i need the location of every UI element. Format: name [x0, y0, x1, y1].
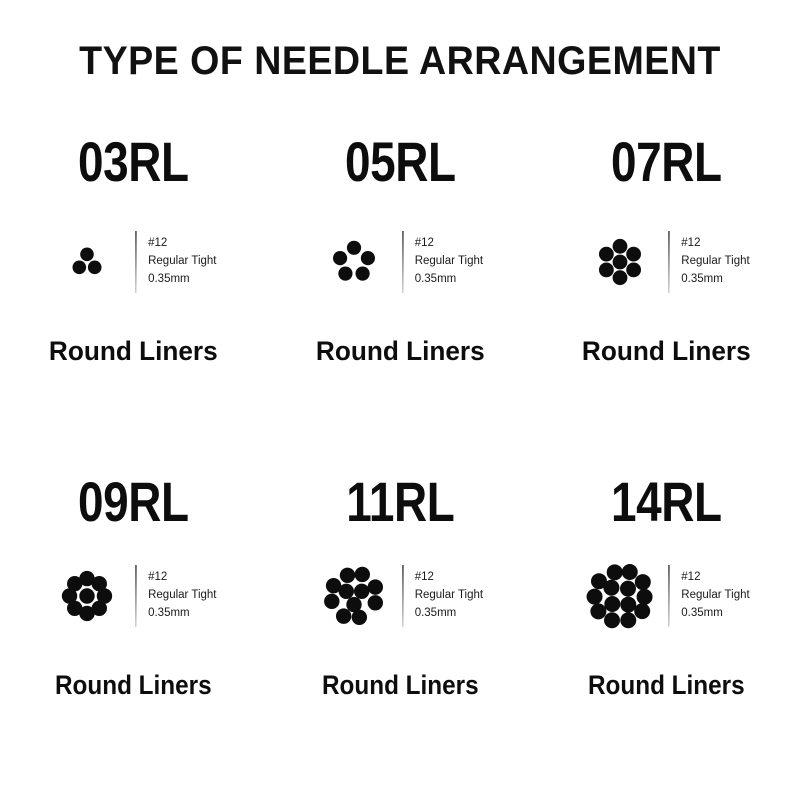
needle-dot-diagram [583, 225, 657, 299]
needle-diameter: 0.35mm [681, 271, 749, 289]
needle-diameter: 0.35mm [415, 605, 483, 623]
needle-gauge: #12 [681, 569, 749, 587]
needle-gauge: #12 [415, 235, 483, 253]
needle-diameter: 0.35mm [148, 605, 216, 623]
needle-spec: #12 Regular Tight 0.35mm [415, 569, 483, 622]
needle-code: 07RL [557, 118, 776, 190]
needle-card-0[interactable]: 03RL #12 Regular Tight 0.35mm Round Line… [0, 118, 267, 458]
needle-taper-icon [401, 565, 405, 627]
needle-gauge: #12 [681, 235, 749, 253]
needle-type-label: Round Liners [547, 670, 787, 701]
needle-arrangement-grid: 03RL #12 Regular Tight 0.35mm Round Line… [0, 118, 800, 798]
needle-detail-row: #12 Regular Tight 0.35mm [0, 214, 267, 310]
needle-taper: Regular Tight [681, 587, 749, 605]
needle-spec: #12 Regular Tight 0.35mm [681, 235, 749, 288]
needle-taper: Regular Tight [148, 587, 216, 605]
needle-taper-icon [401, 231, 405, 293]
needle-dot-diagram [317, 225, 391, 299]
needle-diameter: 0.35mm [681, 605, 749, 623]
needle-gauge: #12 [148, 235, 216, 253]
needle-detail-row: #12 Regular Tight 0.35mm [533, 214, 800, 310]
needle-spec: #12 Regular Tight 0.35mm [415, 235, 483, 288]
needle-card-3[interactable]: 09RL #12 Regular Tight 0.35mm Round Line… [0, 458, 267, 798]
needle-gauge: #12 [148, 569, 216, 587]
needle-type-label: Round Liners [280, 670, 520, 701]
needle-type-label: Round Liners [271, 336, 530, 367]
needle-dot-diagram [50, 225, 124, 299]
needle-dot-diagram [317, 559, 391, 633]
needle-taper: Regular Tight [681, 253, 749, 271]
needle-type-label: Round Liners [537, 336, 796, 367]
needle-gauge: #12 [415, 569, 483, 587]
needle-code: 14RL [557, 458, 776, 530]
needle-taper: Regular Tight [415, 587, 483, 605]
needle-taper-icon [667, 231, 671, 293]
page-title: TYPE OF NEEDLE ARRANGEMENT [24, 40, 776, 82]
needle-card-5[interactable]: 14RL #12 Regular Tight 0.35mm Round Line… [533, 458, 800, 798]
needle-card-1[interactable]: 05RL #12 Regular Tight 0.35mm Round Line… [267, 118, 534, 458]
needle-taper-icon [667, 565, 671, 627]
needle-taper-icon [134, 231, 138, 293]
needle-type-label: Round Liners [13, 670, 253, 701]
needle-code: 03RL [24, 118, 243, 190]
needle-spec: #12 Regular Tight 0.35mm [148, 235, 216, 288]
needle-diameter: 0.35mm [148, 271, 216, 289]
needle-code: 09RL [24, 458, 243, 530]
needle-card-2[interactable]: 07RL #12 Regular Tight 0.35mm Round Line… [533, 118, 800, 458]
needle-taper: Regular Tight [415, 253, 483, 271]
needle-type-label: Round Liners [4, 336, 263, 367]
needle-spec: #12 Regular Tight 0.35mm [681, 569, 749, 622]
needle-detail-row: #12 Regular Tight 0.35mm [267, 214, 534, 310]
needle-detail-row: #12 Regular Tight 0.35mm [533, 548, 800, 644]
needle-dot-diagram [50, 559, 124, 633]
needle-spec: #12 Regular Tight 0.35mm [148, 569, 216, 622]
needle-taper: Regular Tight [148, 253, 216, 271]
needle-detail-row: #12 Regular Tight 0.35mm [0, 548, 267, 644]
needle-code: 05RL [291, 118, 510, 190]
needle-diameter: 0.35mm [415, 271, 483, 289]
needle-taper-icon [134, 565, 138, 627]
needle-code: 11RL [291, 458, 510, 530]
needle-dot-diagram [583, 559, 657, 633]
needle-card-4[interactable]: 11RL #12 Regular Tight 0.35mm Round Line… [267, 458, 534, 798]
needle-detail-row: #12 Regular Tight 0.35mm [267, 548, 534, 644]
